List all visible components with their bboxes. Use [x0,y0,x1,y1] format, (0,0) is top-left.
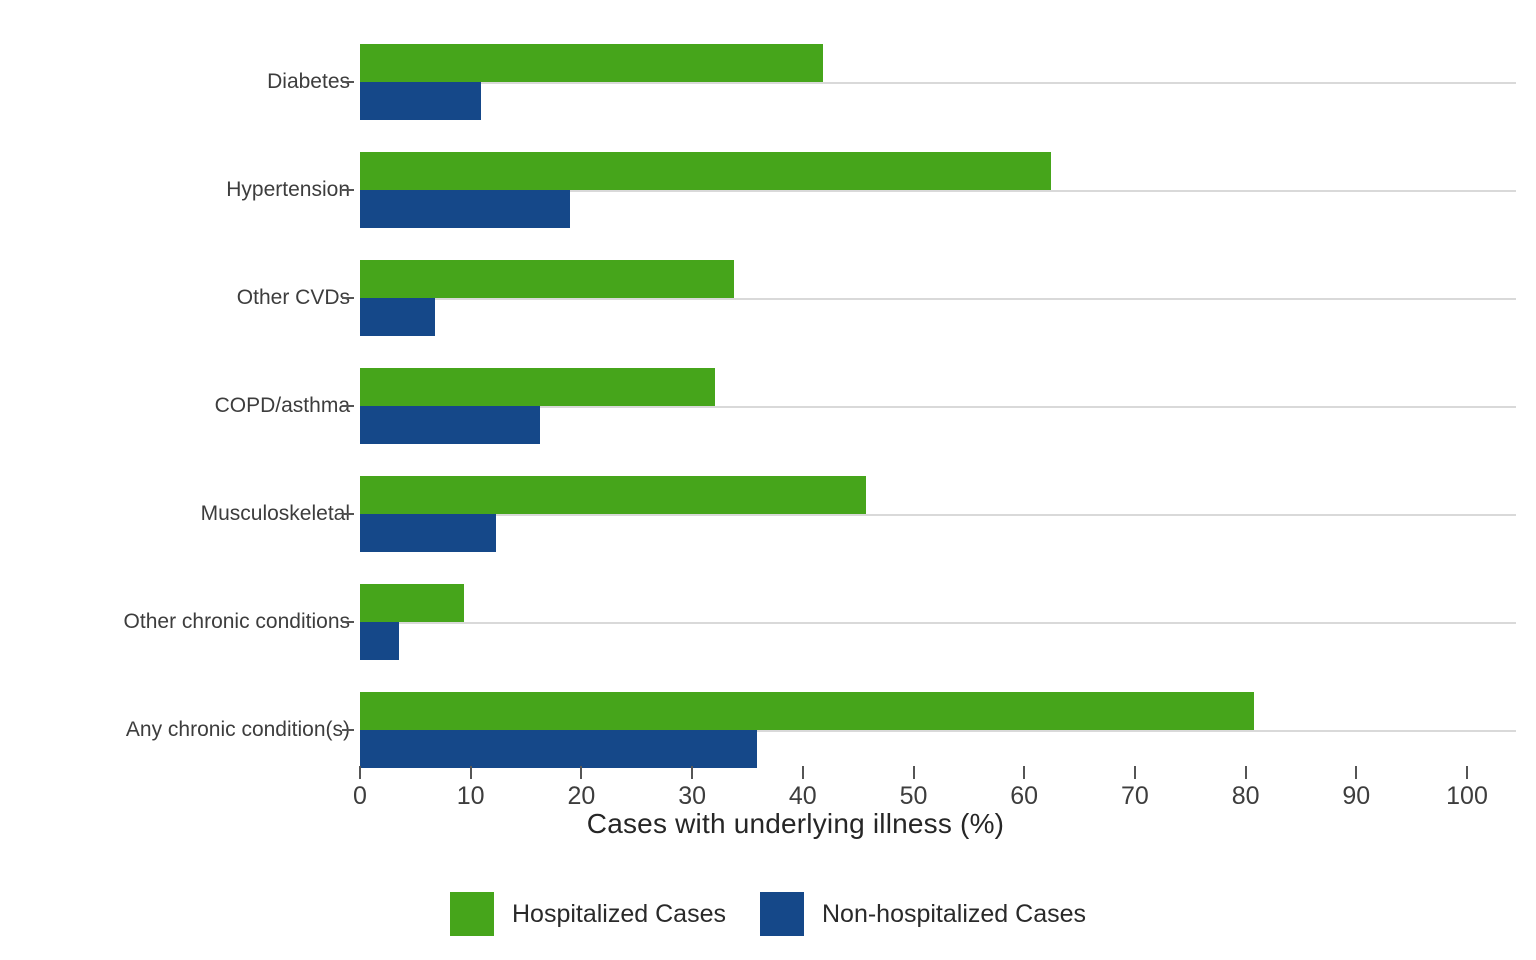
bar-non-hospitalized [360,514,496,552]
x-axis-tick [580,766,582,779]
gridline [360,622,1516,624]
x-axis-tick [1245,766,1247,779]
x-axis-tick [1355,766,1357,779]
y-axis-category-label: Other CVDs [237,286,350,310]
x-axis-tick [359,766,361,779]
y-axis-category-label: Hypertension [226,178,350,202]
bar-hospitalized [360,692,1254,730]
bar-hospitalized [360,260,734,298]
gridline [360,298,1516,300]
legend-item[interactable]: Hospitalized Cases [450,892,726,936]
y-axis-tick [342,621,354,623]
y-axis-tick [342,81,354,83]
x-axis-tick-label: 90 [1342,782,1370,811]
x-axis-tick [691,766,693,779]
bar-group [360,152,1467,228]
x-axis-tick-label: 30 [678,782,706,811]
bar-hospitalized [360,584,464,622]
bar-non-hospitalized [360,730,757,768]
legend-item[interactable]: Non-hospitalized Cases [760,892,1086,936]
y-axis-category-label: Any chronic condition(s) [126,718,350,742]
y-axis-tick [342,189,354,191]
legend-color-swatch [760,892,804,936]
bar-group [360,260,1467,336]
bar-hospitalized [360,152,1051,190]
x-axis-tick-label: 80 [1232,782,1260,811]
x-axis-tick-label: 20 [567,782,595,811]
bar-non-hospitalized [360,622,399,660]
bar-non-hospitalized [360,190,570,228]
x-axis-tick-label: 40 [789,782,817,811]
x-axis-tick [913,766,915,779]
x-axis-tick-label: 50 [900,782,928,811]
legend-label: Hospitalized Cases [512,900,726,929]
bar-group [360,584,1467,660]
x-axis-tick [1023,766,1025,779]
legend-label: Non-hospitalized Cases [822,900,1086,929]
bar-group [360,44,1467,120]
x-axis-tick-label: 0 [353,782,367,811]
x-axis-tick-label: 100 [1446,782,1488,811]
chart-legend: Hospitalized CasesNon-hospitalized Cases [0,892,1536,936]
x-axis-tick [802,766,804,779]
x-axis-tick-label: 60 [1010,782,1038,811]
bar-chart: DiabetesHypertensionOther CVDsCOPD/asthm… [0,0,1536,960]
y-axis-tick [342,513,354,515]
y-axis-tick [342,297,354,299]
bar-non-hospitalized [360,298,435,336]
y-axis-tick [342,405,354,407]
y-axis-category-label: Other chronic conditions [124,610,350,634]
bar-hospitalized [360,368,715,406]
bar-hospitalized [360,476,866,514]
bar-non-hospitalized [360,82,481,120]
bar-non-hospitalized [360,406,540,444]
x-axis-title-text: Cases with underlying illness (%) [587,808,1004,840]
bar-group [360,476,1467,552]
x-axis-tick [470,766,472,779]
y-axis-category-label: Musculoskeletal [201,502,350,526]
gridline [360,82,1516,84]
x-axis-tick [1466,766,1468,779]
bar-group [360,692,1467,768]
bar-hospitalized [360,44,823,82]
y-axis-category-label: COPD/asthma [215,394,350,418]
bar-group [360,368,1467,444]
x-axis-tick-label: 10 [457,782,485,811]
x-axis-tick [1134,766,1136,779]
gridline [360,514,1516,516]
x-axis-title: Cases with underlying illness (%) [0,808,1536,840]
legend-color-swatch [450,892,494,936]
plot-area [360,22,1467,762]
x-axis-tick-label: 70 [1121,782,1149,811]
y-axis-tick [342,729,354,731]
y-axis-category-label: Diabetes [267,70,350,94]
